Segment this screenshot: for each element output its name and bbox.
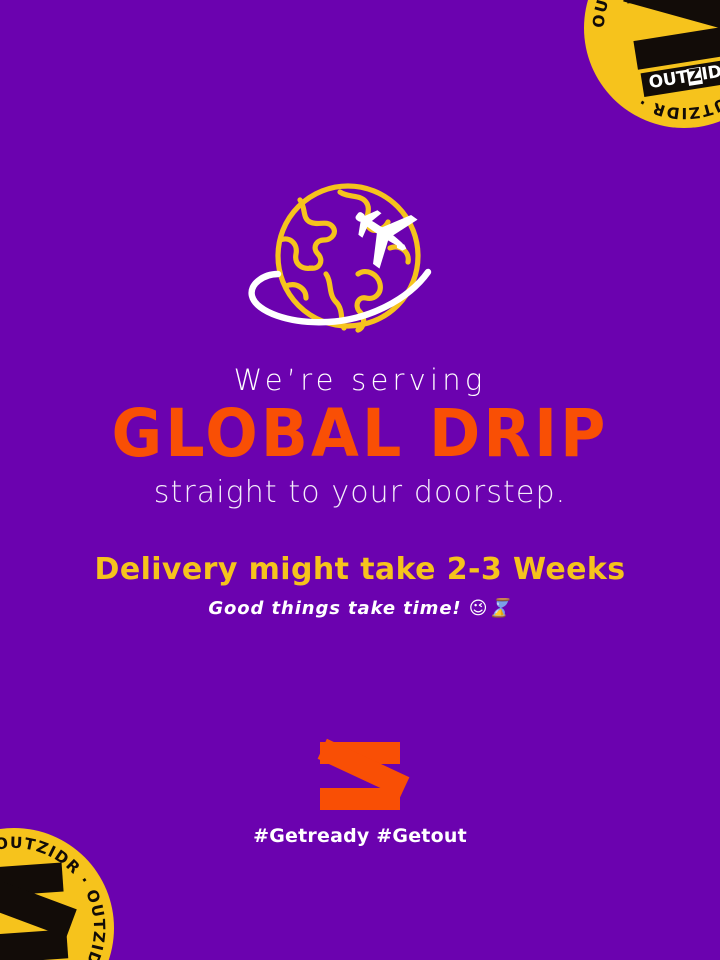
subheadline-text: straight to your doorstep. bbox=[0, 476, 720, 511]
page-title: GLOBAL DRIP bbox=[0, 401, 720, 467]
poster-copy-block: We’re serving GLOBAL DRIP straight to yo… bbox=[0, 364, 720, 620]
wordmark-part-1: OUT bbox=[648, 69, 689, 92]
poster-footer: #Getready #Getout bbox=[0, 742, 720, 847]
outzidr-z-logo-icon bbox=[320, 742, 400, 810]
eyebrow-text: We’re serving bbox=[0, 364, 720, 397]
hashtags-text: #Getready #Getout bbox=[253, 825, 467, 847]
delivery-notice-text: Delivery might take 2-3 Weeks bbox=[0, 553, 720, 588]
outzidr-z-logo-icon bbox=[623, 0, 720, 70]
reassurance-text: Good things take time! 😉⌛ bbox=[0, 598, 720, 620]
badge-core-bottom-left: OUTZIDR bbox=[0, 862, 82, 960]
brand-badge-bottom-left: OUTZIDR · OUTZIDR · OUTZIDR · OUTZIDR · … bbox=[0, 828, 114, 960]
globe-with-airplane-icon bbox=[240, 178, 480, 343]
badge-core-top-right: OUTZIDR bbox=[611, 0, 720, 99]
brand-badge-top-right: OUTZIDR · OUTZIDR · OUTZIDR · OUTZIDR · … bbox=[584, 0, 720, 128]
wordmark-part-3: IDR bbox=[701, 62, 720, 84]
promo-poster: OUTZIDR · OUTZIDR · OUTZIDR · OUTZIDR · … bbox=[0, 0, 720, 960]
outzidr-z-logo-icon bbox=[0, 863, 68, 960]
